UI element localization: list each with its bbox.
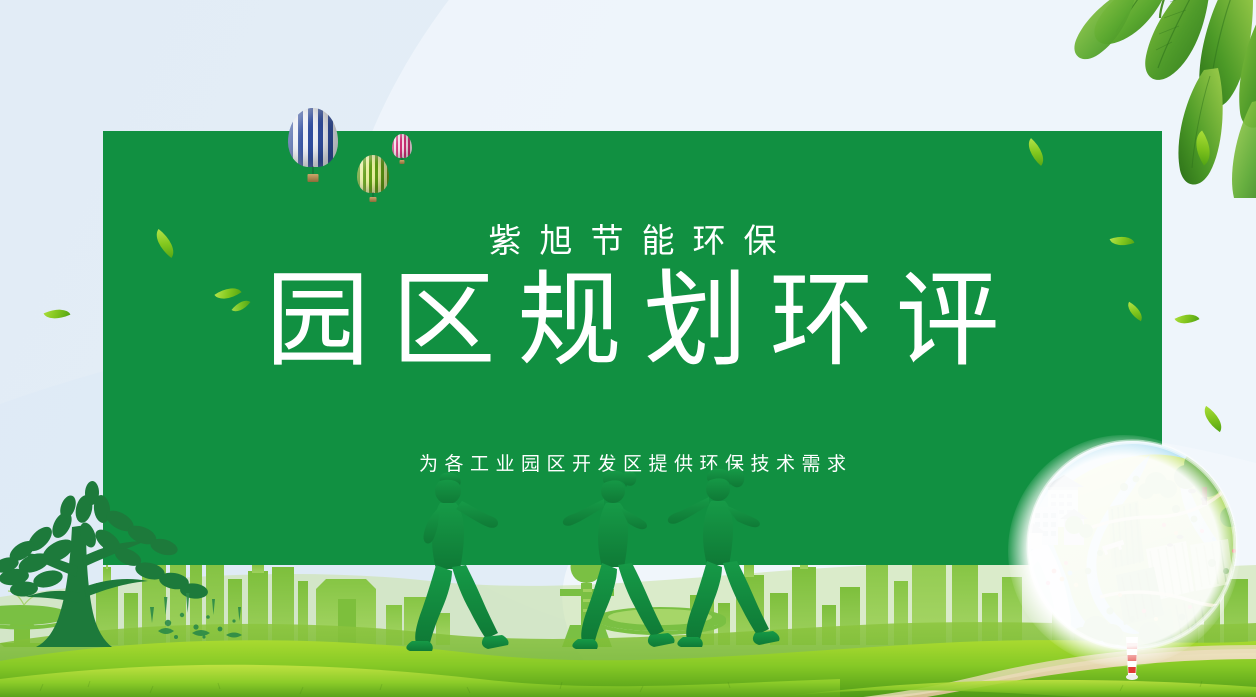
walking-figure-woman-1 <box>563 471 675 649</box>
globe-halo <box>1008 435 1240 667</box>
floating-leaf-icon <box>44 304 71 325</box>
page-title: 园区规划环评 <box>103 265 1162 377</box>
tree-silhouette <box>0 481 209 647</box>
splatter-decoration <box>150 593 242 639</box>
hot-air-balloon-blue <box>288 108 338 184</box>
walking-figure-man <box>406 472 508 651</box>
hot-air-balloon-green <box>357 155 389 204</box>
hot-air-balloon-pink <box>392 134 412 165</box>
floating-leaf-icon <box>1022 138 1051 166</box>
eco-earth-illustration <box>1004 421 1256 689</box>
walking-figure-woman-2 <box>668 469 780 647</box>
panel-subtitle: 紫旭节能环保 <box>103 214 1162 262</box>
presentation-slide: 紫旭节能环保 园区规划环评 为各工业园区开发区提供环保技术需求 <box>0 0 1256 697</box>
